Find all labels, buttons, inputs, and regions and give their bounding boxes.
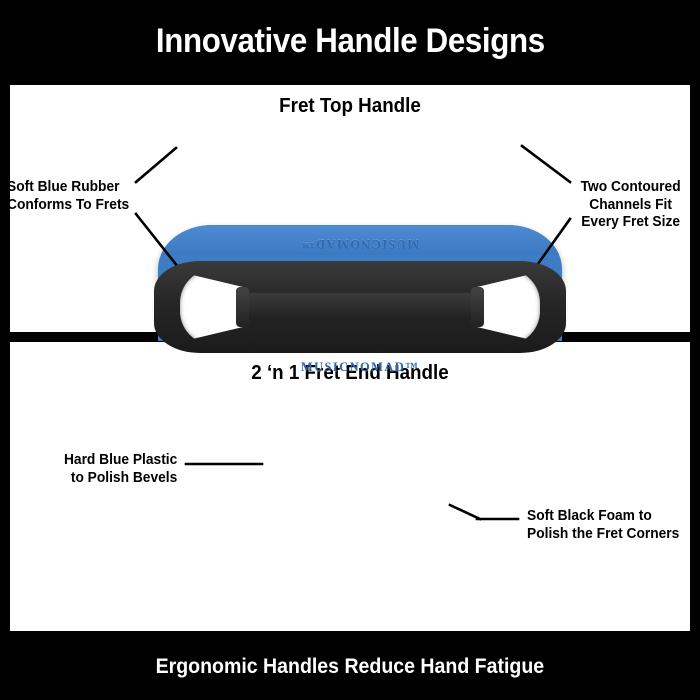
infographic-page: Innovative Handle Designs Fret Top Handl…: [0, 0, 700, 700]
callout-line: Soft Blue Rubber: [7, 179, 129, 197]
callout-line: Two Contoured: [581, 179, 681, 197]
callout-two-contoured-channels: Two Contoured Channels Fit Every Fret Si…: [581, 179, 681, 232]
callout-line: Every Fret Size: [581, 214, 681, 232]
panel-title-fret-top-handle: Fret Top Handle: [30, 95, 669, 118]
callout-line: to Polish Bevels: [64, 470, 177, 488]
center-crossbar: [242, 293, 478, 321]
footer-tagline: Ergonomic Handles Reduce Hand Fatigue: [156, 655, 544, 679]
callout-hard-blue-plastic: Hard Blue Plastic to Polish Bevels: [64, 452, 177, 487]
callout-line: Soft Black Foam to: [527, 508, 679, 526]
product-logo-embossed-bottom: MUSICNOMAD™: [158, 360, 562, 375]
callout-line: Channels Fit: [581, 197, 681, 215]
product-image-fret-top-handle: MUSICNOMAD™ MUSICNOMAD™: [158, 225, 562, 385]
contoured-channel-right: [476, 269, 540, 345]
callout-line: Conforms To Frets: [7, 197, 129, 215]
contoured-channel-left: [180, 269, 244, 345]
page-title: Innovative Handle Designs: [156, 22, 545, 61]
callout-soft-black-foam: Soft Black Foam to Polish the Fret Corne…: [527, 508, 679, 543]
black-plastic-frame: [154, 261, 566, 353]
product-logo-embossed-top: MUSICNOMAD™: [158, 236, 562, 251]
footer-band: Ergonomic Handles Reduce Hand Fatigue: [0, 634, 700, 700]
callout-soft-blue-rubber: Soft Blue Rubber Conforms To Frets: [7, 179, 129, 214]
callout-line: Hard Blue Plastic: [64, 452, 177, 470]
callout-line: Polish the Fret Corners: [527, 526, 679, 544]
header-band: Innovative Handle Designs: [0, 0, 700, 82]
